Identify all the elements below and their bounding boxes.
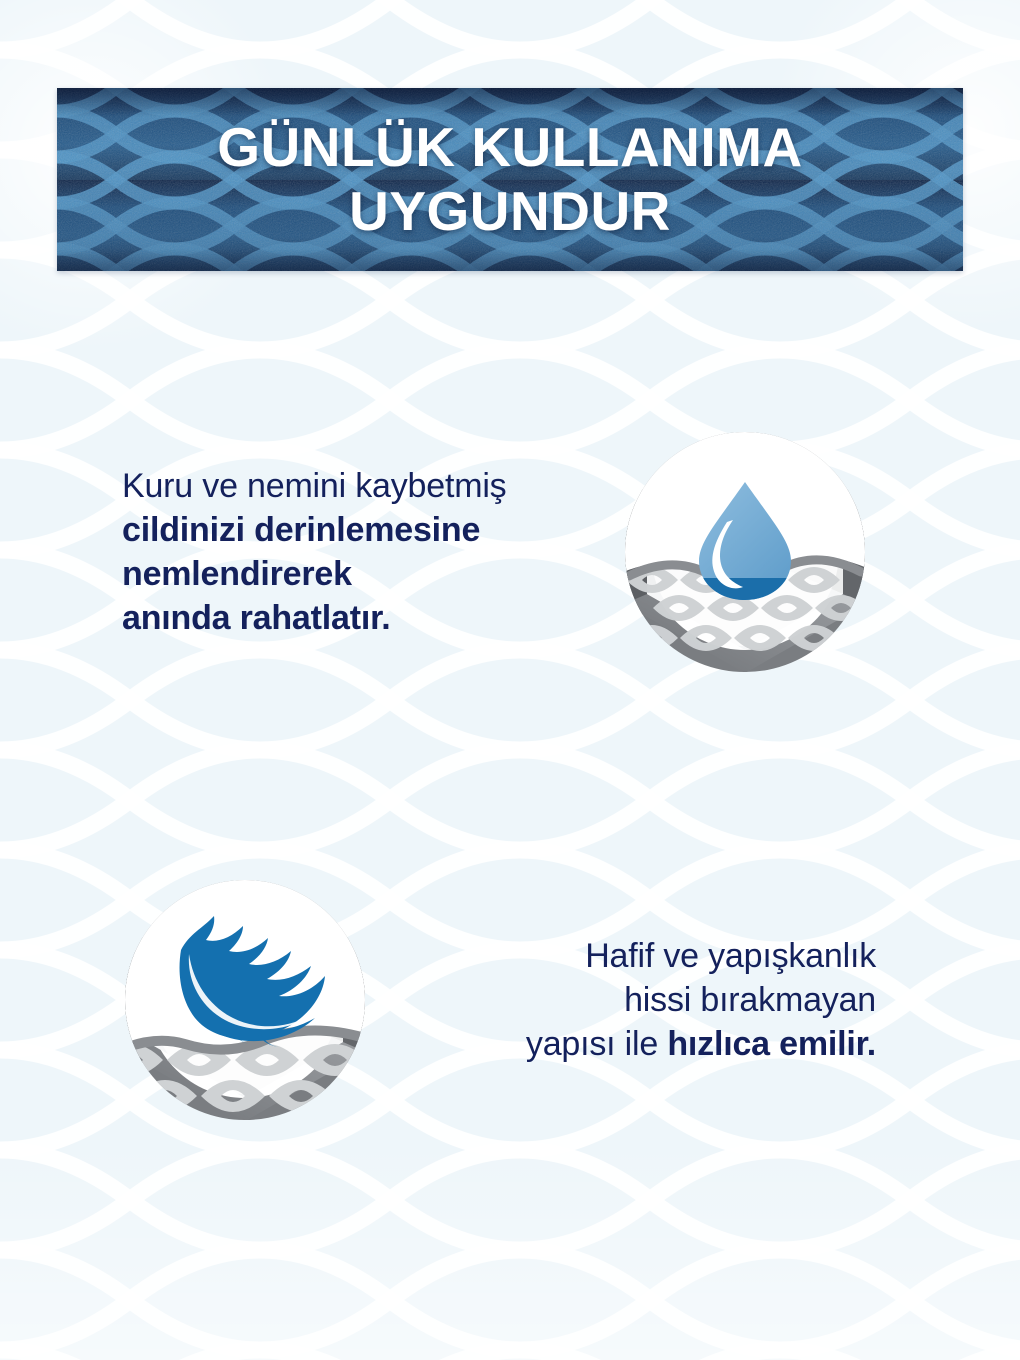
banner-title-line-2: UYGUNDUR: [349, 181, 671, 243]
product-feature-infographic: GÜNLÜK KULLANIMA UYGUNDUR Kuru ve nemini…: [0, 0, 1020, 1360]
water-droplet-badge-icon: [623, 430, 867, 674]
feature-moisturize-line-3: nemlendirerek: [122, 552, 620, 596]
feature-block-fast-absorb: Hafif ve yapışkanlık hissi bırakmayan ya…: [120, 872, 940, 1128]
feature-fast-absorb-line-3-normal: yapısı ile: [526, 1025, 667, 1063]
feature-block-moisturize: Kuru ve nemini kaybetmiş cildinizi derin…: [100, 424, 900, 680]
feature-fast-absorb-line-2: hissi bırakmayan: [370, 978, 876, 1022]
feature-fast-absorb-text: Hafif ve yapışkanlık hissi bırakmayan ya…: [370, 934, 890, 1067]
feature-fast-absorb-badge-slot: [120, 878, 370, 1122]
background-glow-bottom: [0, 1140, 1020, 1360]
header-banner: GÜNLÜK KULLANIMA UYGUNDUR: [57, 88, 963, 271]
banner-title-line-1: GÜNLÜK KULLANIMA: [217, 117, 802, 179]
feature-moisturize-badge-slot: [620, 430, 870, 674]
feature-moisturize-text: Kuru ve nemini kaybetmiş cildinizi derin…: [100, 464, 620, 641]
feature-moisturize-line-2: cildinizi derinlemesine: [122, 508, 620, 552]
feature-moisturize-line-1: Kuru ve nemini kaybetmiş: [122, 464, 620, 508]
feature-fast-absorb-line-3-bold: hızlıca emilir.: [667, 1025, 876, 1063]
feature-fast-absorb-line-3: yapısı ile hızlıca emilir.: [370, 1022, 876, 1066]
banner-title: GÜNLÜK KULLANIMA UYGUNDUR: [57, 88, 963, 271]
feature-fast-absorb-line-1: Hafif ve yapışkanlık: [370, 934, 876, 978]
feather-badge-icon: [123, 878, 367, 1122]
feature-moisturize-line-4: anında rahatlatır.: [122, 596, 620, 640]
